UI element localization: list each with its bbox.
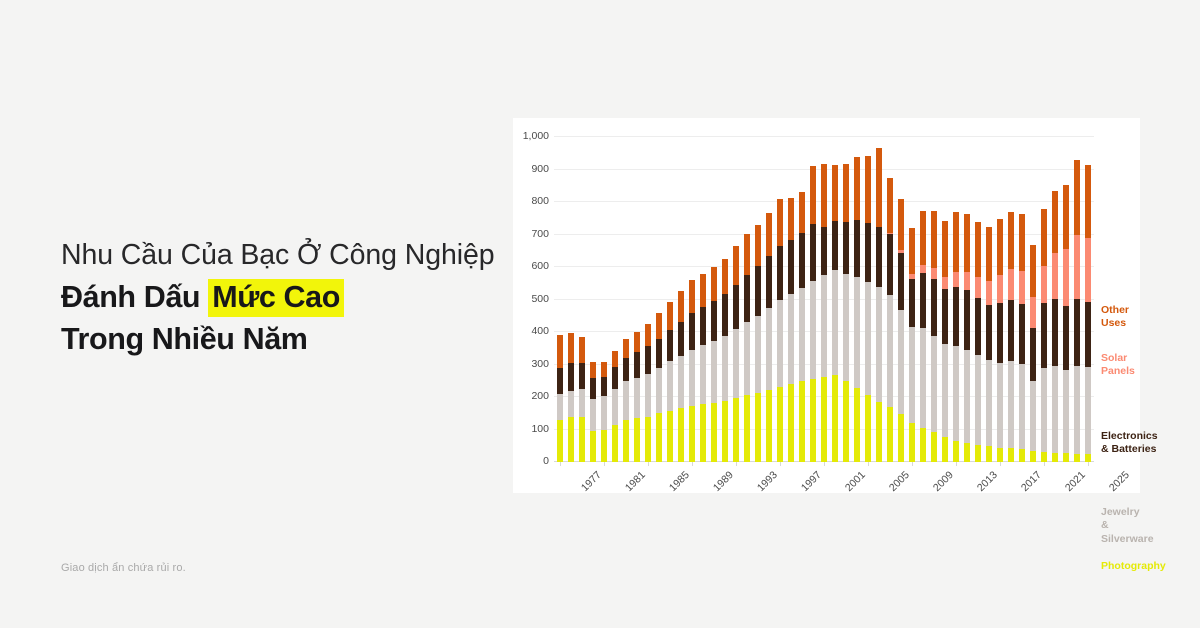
bar-segment	[1041, 266, 1047, 302]
bar-slot[interactable]	[1061, 137, 1072, 462]
bar-series-group	[554, 137, 1094, 462]
bar-segment	[1041, 209, 1047, 267]
bar-segment	[623, 358, 629, 381]
y-axis-tick-label: 300	[531, 358, 549, 370]
bar-segment	[634, 418, 640, 462]
bar-slot[interactable]	[730, 137, 741, 462]
bar-segment	[634, 332, 640, 353]
legend-item[interactable]: Photography	[1101, 560, 1166, 573]
bar-slot[interactable]	[774, 137, 785, 462]
bar-segment	[832, 221, 838, 270]
bar-segment	[865, 223, 871, 282]
stacked-bar[interactable]	[953, 212, 959, 462]
bar-segment	[579, 417, 585, 463]
bar-segment	[678, 291, 684, 322]
bar-segment	[579, 389, 585, 417]
bar-segment	[700, 274, 706, 308]
bar-slot[interactable]	[1006, 137, 1017, 462]
bar-segment	[898, 414, 904, 462]
bar-segment	[645, 374, 651, 417]
bar-segment	[601, 430, 607, 462]
bar-segment	[854, 157, 860, 221]
legend-item[interactable]: Other Uses	[1101, 304, 1140, 331]
bar-segment	[931, 268, 937, 278]
x-axis-tick-label: 1977	[578, 469, 603, 494]
bar-slot[interactable]	[873, 137, 884, 462]
x-axis-tick	[912, 462, 913, 466]
y-axis-tick-label: 200	[531, 390, 549, 402]
bar-segment	[1085, 367, 1091, 453]
bar-segment	[667, 411, 673, 462]
stacked-bar[interactable]	[766, 213, 772, 462]
bar-segment	[799, 381, 805, 462]
bar-segment	[777, 300, 783, 386]
bar-segment	[799, 192, 805, 232]
bar-segment	[909, 279, 915, 327]
headline-highlight: Mức Cao	[208, 279, 344, 317]
stacked-bar[interactable]	[854, 157, 860, 462]
bar-segment	[821, 377, 827, 462]
stacked-bar[interactable]	[876, 148, 882, 462]
bar-segment	[711, 341, 717, 403]
x-axis-tick	[956, 462, 957, 466]
bar-segment	[953, 346, 959, 441]
bar-segment	[777, 246, 783, 301]
stacked-bar[interactable]	[579, 337, 585, 462]
bar-segment	[788, 294, 794, 384]
bar-segment	[953, 272, 959, 288]
stacked-bar[interactable]	[678, 291, 684, 462]
bar-segment	[1030, 245, 1036, 297]
bar-slot[interactable]	[940, 137, 951, 462]
bar-segment	[590, 399, 596, 432]
stacked-bar[interactable]	[1030, 245, 1036, 462]
bar-slot[interactable]	[752, 137, 763, 462]
bar-segment	[1041, 368, 1047, 453]
bar-segment	[656, 368, 662, 414]
bar-segment	[898, 253, 904, 310]
bar-segment	[656, 339, 662, 368]
bar-segment	[700, 307, 706, 345]
stacked-bar[interactable]	[1019, 214, 1025, 462]
bar-segment	[711, 267, 717, 301]
x-axis-tick	[868, 462, 869, 466]
bar-slot[interactable]	[995, 137, 1006, 462]
bar-segment	[1041, 452, 1047, 462]
bar-slot[interactable]	[918, 137, 929, 462]
bar-segment	[1008, 212, 1014, 269]
bar-segment	[942, 289, 948, 344]
stacked-bar[interactable]	[612, 351, 618, 462]
bar-segment	[1085, 302, 1091, 367]
stacked-bar[interactable]	[1074, 160, 1080, 462]
bar-segment	[832, 375, 838, 462]
bar-segment	[568, 333, 574, 364]
bar-segment	[667, 330, 673, 361]
bar-segment	[865, 395, 871, 462]
bar-segment	[975, 445, 981, 462]
bar-segment	[1074, 160, 1080, 235]
bar-segment	[1019, 304, 1025, 364]
stacked-bar[interactable]	[1052, 191, 1058, 462]
bar-slot[interactable]	[565, 137, 576, 462]
bar-segment	[601, 362, 607, 377]
legend-item[interactable]: Electronics & Batteries	[1101, 430, 1158, 457]
bar-segment	[975, 355, 981, 445]
bar-segment	[623, 339, 629, 358]
bar-slot[interactable]	[631, 137, 642, 462]
chart-panel: 01002003004005006007008009001,000 197719…	[513, 118, 1140, 493]
bar-segment	[623, 420, 629, 462]
infographic-canvas: Nhu Cầu Của Bạc Ở Công Nghiệp Đánh Dấu M…	[0, 0, 1200, 628]
bar-segment	[689, 406, 695, 462]
stacked-bar[interactable]	[634, 332, 640, 462]
bar-segment	[612, 367, 618, 388]
bar-slot[interactable]	[554, 137, 565, 462]
bar-segment	[920, 273, 926, 329]
bar-slot[interactable]	[1072, 137, 1083, 462]
stacked-bar[interactable]	[1085, 165, 1091, 462]
bar-slot[interactable]	[598, 137, 609, 462]
x-axis-tick-label: 1993	[755, 469, 780, 494]
bar-segment	[722, 401, 728, 462]
bar-segment	[667, 302, 673, 330]
disclaimer-text: Giao dịch ẩn chứa rủi ro.	[61, 562, 186, 574]
stacked-bar[interactable]	[601, 362, 607, 462]
bar-segment	[931, 211, 937, 268]
stacked-bar[interactable]	[832, 165, 838, 462]
bar-segment	[920, 265, 926, 273]
stacked-bar[interactable]	[909, 228, 915, 462]
bar-segment	[711, 403, 717, 462]
stacked-bar[interactable]	[711, 267, 717, 462]
bar-slot[interactable]	[763, 137, 774, 462]
bar-slot[interactable]	[1017, 137, 1028, 462]
x-axis-tick	[736, 462, 737, 466]
bar-segment	[744, 322, 750, 395]
bar-segment	[810, 281, 816, 379]
bar-segment	[788, 240, 794, 295]
bar-slot[interactable]	[686, 137, 697, 462]
bar-segment	[722, 336, 728, 401]
bar-segment	[986, 281, 992, 304]
bar-slot[interactable]	[587, 137, 598, 462]
bar-segment	[964, 214, 970, 273]
bar-segment	[843, 164, 849, 223]
bar-segment	[1008, 300, 1014, 361]
bar-segment	[612, 389, 618, 425]
bar-segment	[876, 402, 882, 462]
bar-segment	[1085, 165, 1091, 238]
stacked-bar[interactable]	[799, 192, 805, 462]
bar-segment	[854, 277, 860, 388]
stacked-bar[interactable]	[656, 313, 662, 462]
stacked-bar[interactable]	[810, 166, 816, 462]
bar-segment	[1008, 448, 1014, 462]
bar-slot[interactable]	[620, 137, 631, 462]
y-axis-tick-label: 0	[543, 455, 549, 467]
bar-segment	[931, 432, 937, 462]
legend-item[interactable]: Jewelry & Silverware	[1101, 506, 1154, 546]
x-axis-tick-label: 2005	[887, 469, 912, 494]
x-axis-tick-label: 1997	[799, 469, 824, 494]
bar-segment	[964, 443, 970, 462]
x-axis-tick	[1088, 462, 1089, 466]
chart-plot-area: 01002003004005006007008009001,000 197719…	[554, 137, 1094, 462]
bar-segment	[656, 313, 662, 338]
stacked-bar[interactable]	[865, 156, 871, 462]
headline-block: Nhu Cầu Của Bạc Ở Công Nghiệp Đánh Dấu M…	[61, 238, 501, 359]
bar-slot[interactable]	[840, 137, 851, 462]
stacked-bar[interactable]	[843, 164, 849, 462]
stacked-bar[interactable]	[920, 211, 926, 462]
stacked-bar[interactable]	[722, 259, 728, 462]
bar-segment	[1030, 328, 1036, 381]
bar-segment	[557, 368, 563, 395]
bar-segment	[799, 233, 805, 288]
bar-segment	[865, 282, 871, 395]
bar-segment	[568, 391, 574, 418]
bar-segment	[953, 287, 959, 346]
stacked-bar[interactable]	[986, 227, 992, 462]
y-axis-tick-label: 400	[531, 325, 549, 337]
y-axis-tick-label: 700	[531, 228, 549, 240]
bar-segment	[997, 219, 1003, 276]
bar-segment	[700, 345, 706, 404]
stacked-bar[interactable]	[887, 178, 893, 462]
bar-segment	[1085, 238, 1091, 302]
stacked-bar[interactable]	[645, 324, 651, 462]
bar-segment	[1019, 214, 1025, 271]
bar-slot[interactable]	[741, 137, 752, 462]
bar-slot[interactable]	[962, 137, 973, 462]
bar-segment	[557, 335, 563, 368]
stacked-bar[interactable]	[1008, 212, 1014, 462]
bar-slot[interactable]	[907, 137, 918, 462]
bar-segment	[909, 327, 915, 423]
bar-segment	[942, 344, 948, 436]
bar-segment	[931, 336, 937, 432]
bar-slot[interactable]	[1050, 137, 1061, 462]
bar-slot[interactable]	[973, 137, 984, 462]
stacked-bar[interactable]	[1041, 209, 1047, 462]
bar-segment	[1074, 366, 1080, 454]
bar-segment	[590, 378, 596, 398]
bar-segment	[1041, 303, 1047, 368]
bar-segment	[788, 384, 794, 462]
x-axis-tick-label: 2001	[843, 469, 868, 494]
bar-segment	[645, 417, 651, 463]
x-axis-tick	[1000, 462, 1001, 466]
bar-segment	[1030, 381, 1036, 451]
bar-segment	[953, 212, 959, 272]
bar-segment	[843, 381, 849, 462]
stacked-bar[interactable]	[788, 198, 794, 462]
bar-slot[interactable]	[1028, 137, 1039, 462]
bar-segment	[722, 294, 728, 336]
stacked-bar[interactable]	[1063, 185, 1069, 462]
bar-segment	[964, 272, 970, 290]
stacked-bar[interactable]	[975, 222, 981, 462]
bar-slot[interactable]	[719, 137, 730, 462]
bar-slot[interactable]	[929, 137, 940, 462]
bar-segment	[1019, 364, 1025, 449]
bar-segment	[579, 337, 585, 364]
stacked-bar[interactable]	[744, 234, 750, 462]
stacked-bar[interactable]	[931, 211, 937, 462]
bar-segment	[920, 328, 926, 427]
stacked-bar[interactable]	[623, 339, 629, 462]
x-axis-tick	[560, 462, 561, 466]
stacked-bar[interactable]	[557, 335, 563, 462]
bar-segment	[964, 350, 970, 444]
stacked-bar[interactable]	[821, 164, 827, 462]
bar-segment	[986, 227, 992, 282]
bar-segment	[810, 224, 816, 281]
bar-segment	[876, 287, 882, 401]
bar-segment	[1030, 297, 1036, 328]
bar-slot[interactable]	[829, 137, 840, 462]
bar-slot[interactable]	[1039, 137, 1050, 462]
bar-segment	[942, 221, 948, 277]
bar-slot[interactable]	[818, 137, 829, 462]
bar-slot[interactable]	[807, 137, 818, 462]
bar-segment	[1074, 235, 1080, 299]
bar-slot[interactable]	[664, 137, 675, 462]
bar-segment	[777, 387, 783, 462]
stacked-bar[interactable]	[777, 199, 783, 462]
stacked-bar[interactable]	[689, 280, 695, 462]
bar-segment	[733, 329, 739, 398]
bar-segment	[755, 225, 761, 267]
bar-slot[interactable]	[884, 137, 895, 462]
x-axis-tick-label: 2013	[975, 469, 1000, 494]
bar-slot[interactable]	[895, 137, 906, 462]
bar-segment	[953, 441, 959, 462]
bar-slot[interactable]	[697, 137, 708, 462]
legend-item[interactable]: Solar Panels	[1101, 352, 1135, 379]
bar-slot[interactable]	[785, 137, 796, 462]
bar-segment	[854, 220, 860, 277]
bar-segment	[568, 363, 574, 390]
stacked-bar[interactable]	[590, 362, 596, 462]
bar-segment	[942, 437, 948, 462]
bar-slot[interactable]	[609, 137, 620, 462]
bar-segment	[590, 362, 596, 379]
bar-segment	[909, 228, 915, 274]
bar-segment	[744, 234, 750, 274]
bar-segment	[887, 178, 893, 233]
bar-segment	[986, 305, 992, 360]
bar-segment	[832, 165, 838, 221]
bar-segment	[623, 381, 629, 419]
stacked-bar[interactable]	[997, 219, 1003, 462]
bar-slot[interactable]	[1083, 137, 1094, 462]
bar-segment	[788, 198, 794, 240]
bar-segment	[876, 227, 882, 287]
bar-segment	[821, 227, 827, 276]
bar-segment	[997, 363, 1003, 448]
bar-segment	[601, 377, 607, 397]
bar-segment	[975, 277, 981, 297]
bar-segment	[755, 266, 761, 315]
bar-slot[interactable]	[576, 137, 587, 462]
y-axis-tick-label: 900	[531, 163, 549, 175]
bar-slot[interactable]	[851, 137, 862, 462]
bar-segment	[810, 379, 816, 462]
bar-segment	[865, 156, 871, 223]
bar-segment	[711, 301, 717, 341]
bar-segment	[975, 298, 981, 355]
stacked-bar[interactable]	[964, 214, 970, 462]
x-axis-tick	[1044, 462, 1045, 466]
bar-segment	[755, 393, 761, 462]
stacked-bar[interactable]	[700, 274, 706, 462]
bar-segment	[1052, 253, 1058, 299]
stacked-bar[interactable]	[568, 333, 574, 462]
bar-segment	[1063, 453, 1069, 462]
bar-segment	[821, 164, 827, 227]
bar-segment	[645, 346, 651, 373]
bar-segment	[1052, 191, 1058, 253]
bar-segment	[1052, 453, 1058, 462]
bar-segment	[843, 274, 849, 381]
bar-segment	[898, 310, 904, 414]
bar-segment	[1019, 449, 1025, 462]
bar-segment	[766, 308, 772, 390]
x-axis-tick-label: 1981	[622, 469, 647, 494]
bar-slot[interactable]	[642, 137, 653, 462]
stacked-bar[interactable]	[942, 221, 948, 462]
bar-segment	[942, 277, 948, 289]
bar-segment	[733, 246, 739, 284]
bar-segment	[744, 395, 750, 462]
bar-segment	[931, 279, 937, 336]
stacked-bar[interactable]	[898, 199, 904, 462]
stacked-bar[interactable]	[667, 302, 673, 462]
x-axis-tick-label: 2009	[931, 469, 956, 494]
stacked-bar[interactable]	[733, 246, 739, 462]
bar-segment	[557, 394, 563, 419]
bar-slot[interactable]	[675, 137, 686, 462]
x-axis-tick-label: 2021	[1063, 469, 1088, 494]
y-axis-tick-label: 1,000	[523, 130, 549, 142]
bar-segment	[689, 313, 695, 349]
headline-line-3: Trong Nhiều Năm	[61, 320, 501, 358]
bar-segment	[997, 303, 1003, 362]
y-axis-tick-label: 100	[531, 423, 549, 435]
bar-segment	[766, 256, 772, 308]
bar-segment	[590, 431, 596, 462]
bar-slot[interactable]	[862, 137, 873, 462]
bar-segment	[612, 351, 618, 368]
bar-segment	[799, 288, 805, 382]
bar-segment	[832, 270, 838, 375]
bar-slot[interactable]	[653, 137, 664, 462]
bar-segment	[612, 425, 618, 462]
y-axis-tick-label: 500	[531, 293, 549, 305]
bar-segment	[975, 222, 981, 278]
bar-slot[interactable]	[951, 137, 962, 462]
bar-segment	[1008, 269, 1014, 300]
bar-segment	[689, 280, 695, 313]
bar-slot[interactable]	[708, 137, 719, 462]
x-axis-tick	[824, 462, 825, 466]
bar-segment	[634, 352, 640, 377]
stacked-bar[interactable]	[755, 225, 761, 462]
bar-slot[interactable]	[984, 137, 995, 462]
bar-slot[interactable]	[796, 137, 807, 462]
